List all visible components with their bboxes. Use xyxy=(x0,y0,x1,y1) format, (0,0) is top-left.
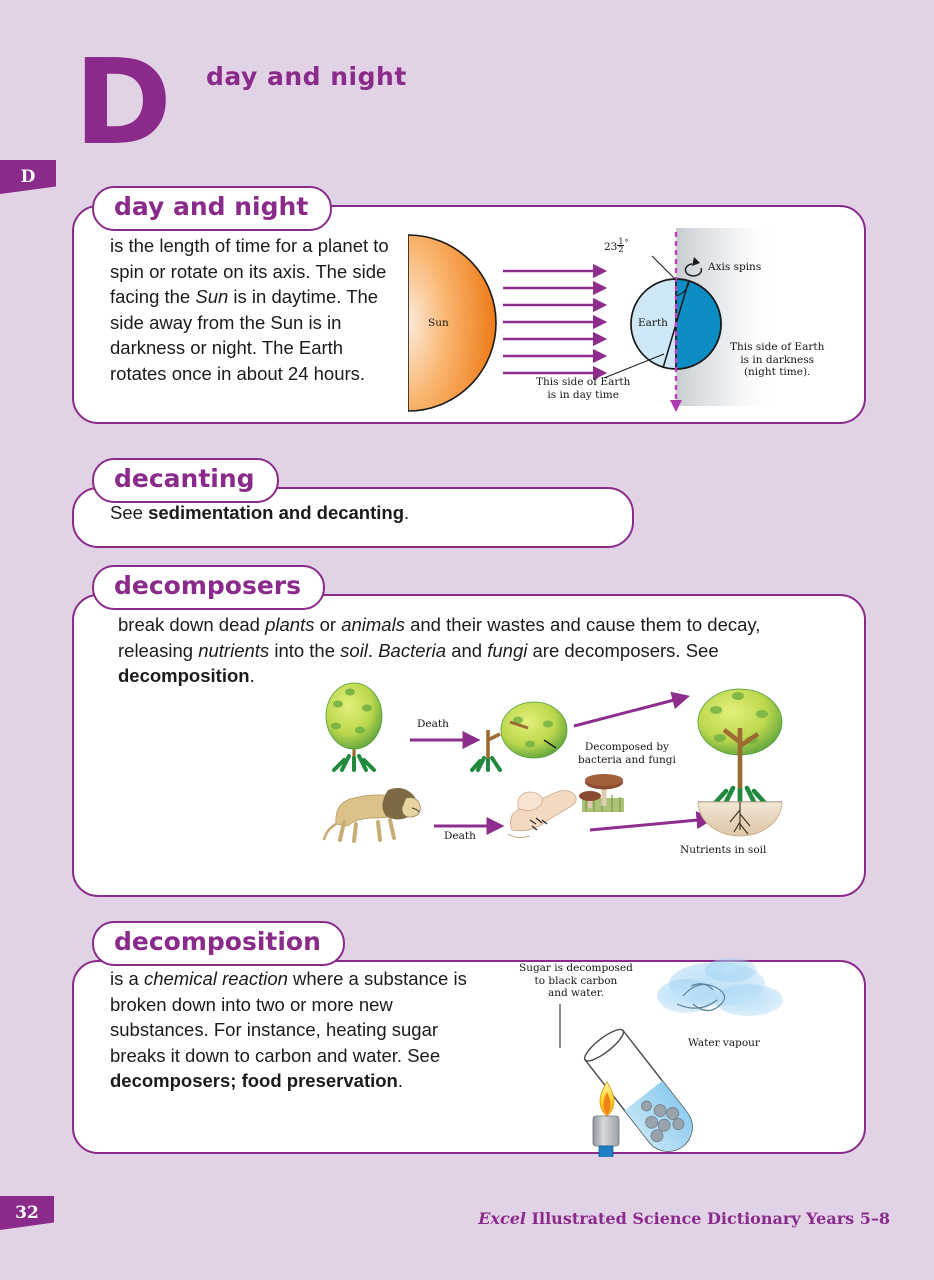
sugar-decomposition-diagram: Sugar is decomposed to black carbon and … xyxy=(505,952,835,1157)
label-night-side: This side of Earth is in darkness (night… xyxy=(730,341,824,379)
label-water-vapour: Water vapour xyxy=(688,1037,760,1050)
label-nutrients-in-soil: Nutrients in soil xyxy=(680,844,766,857)
definition-day-and-night: is the length of time for a planet to sp… xyxy=(110,233,400,386)
sugar-line1: Sugar is decomposed xyxy=(519,962,633,975)
night-side-line3: (night time). xyxy=(730,366,824,379)
label-sugar-decomposed: Sugar is decomposed to black carbon and … xyxy=(519,962,633,1000)
headword-decomposers[interactable]: decomposers xyxy=(92,565,325,610)
dictionary-page: D day and night D day and night is the l… xyxy=(0,0,934,1280)
colophon-brand: Excel xyxy=(478,1209,526,1228)
colophon: Excel Illustrated Science Dictionary Yea… xyxy=(478,1209,890,1228)
headword-day-and-night[interactable]: day and night xyxy=(92,186,332,231)
day-side-line2: is in day time xyxy=(536,389,630,402)
label-death-top: Death xyxy=(417,718,449,731)
day-night-diagram: Sun Earth 23 1 2 ° Axis spins This side … xyxy=(408,228,848,413)
definition-decanting: See sedimentation and decanting. xyxy=(110,500,590,526)
decomposed-line1: Decomposed by xyxy=(578,741,676,754)
label-decomposed-by: Decomposed by bacteria and fungi xyxy=(578,741,676,766)
decomposer-cycle-diagram: Death Death Decomposed by bacteria and f… xyxy=(322,678,802,873)
section-letter: D xyxy=(74,52,170,152)
decomposed-line2: bacteria and fungi xyxy=(578,754,676,767)
sugar-line2: to black carbon xyxy=(519,975,633,988)
sugar-line3: and water. xyxy=(519,987,633,1000)
day-side-line1: This side of Earth xyxy=(536,376,630,389)
label-axis-spins: Axis spins xyxy=(708,261,761,274)
headword-decomposition[interactable]: decomposition xyxy=(92,921,345,966)
night-side-line1: This side of Earth xyxy=(730,341,824,354)
alphabet-side-tab[interactable]: D xyxy=(0,160,56,194)
label-axis-tilt: 23 1 2 ° xyxy=(604,237,628,254)
label-earth: Earth xyxy=(638,317,668,330)
tilt-degree-symbol: ° xyxy=(624,238,628,247)
tilt-whole: 23 xyxy=(604,241,617,253)
running-head: day and night xyxy=(206,62,407,91)
definition-decomposition: is a chemical reaction where a substance… xyxy=(110,966,490,1094)
label-day-side: This side of Earth is in day time xyxy=(536,376,630,401)
tilt-denominator: 2 xyxy=(617,246,624,253)
colophon-title: Illustrated Science Dictionary Years 5–8 xyxy=(526,1209,890,1228)
night-side-line2: is in darkness xyxy=(730,354,824,367)
page-number: 32 xyxy=(0,1196,54,1230)
label-death-bottom: Death xyxy=(444,830,476,843)
headword-decanting[interactable]: decanting xyxy=(92,458,279,503)
label-sun: Sun xyxy=(428,317,449,330)
